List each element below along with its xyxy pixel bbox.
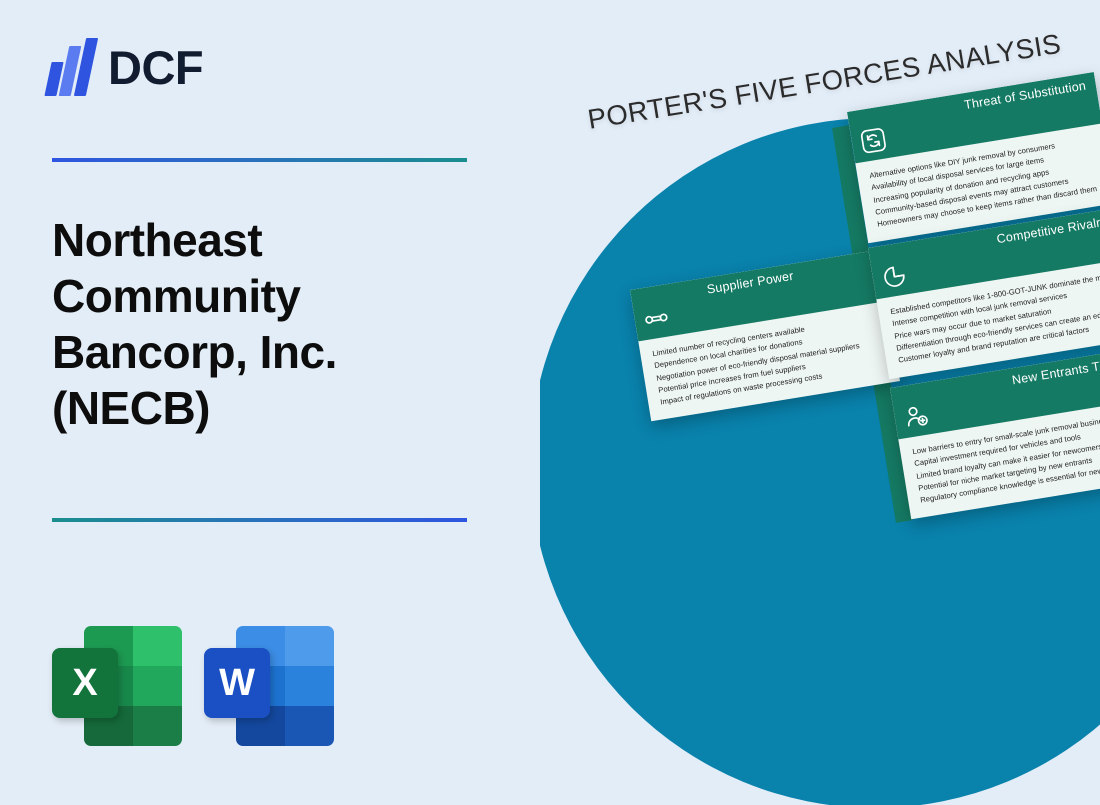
refresh-sync-icon — [859, 126, 888, 155]
pie-chart-icon — [880, 262, 909, 291]
excel-badge-letter: X — [52, 648, 118, 718]
brand-logo[interactable]: DCF — [48, 38, 203, 96]
page-title: Northeast Community Bancorp, Inc. (NECB) — [52, 212, 482, 436]
analysis-panel: PORTER'S FIVE FORCES ANALYSIS Supplier P… — [540, 0, 1100, 805]
dcf-bars-logo-icon — [48, 38, 94, 96]
download-icons: X W — [52, 618, 334, 750]
word-file-icon[interactable]: W — [204, 618, 334, 750]
poster-root: DCF Northeast Community Bancorp, Inc. (N… — [0, 0, 1100, 805]
card-title: Threat of Substitution — [963, 79, 1087, 113]
dumbbell-link-icon — [642, 304, 671, 333]
divider-bottom — [52, 518, 467, 522]
person-add-icon — [902, 402, 931, 431]
left-panel: DCF Northeast Community Bancorp, Inc. (N… — [0, 0, 540, 805]
word-badge-letter: W — [204, 648, 270, 718]
excel-file-icon[interactable]: X — [52, 618, 182, 750]
divider-top — [52, 158, 467, 162]
brand-name: DCF — [108, 44, 203, 91]
